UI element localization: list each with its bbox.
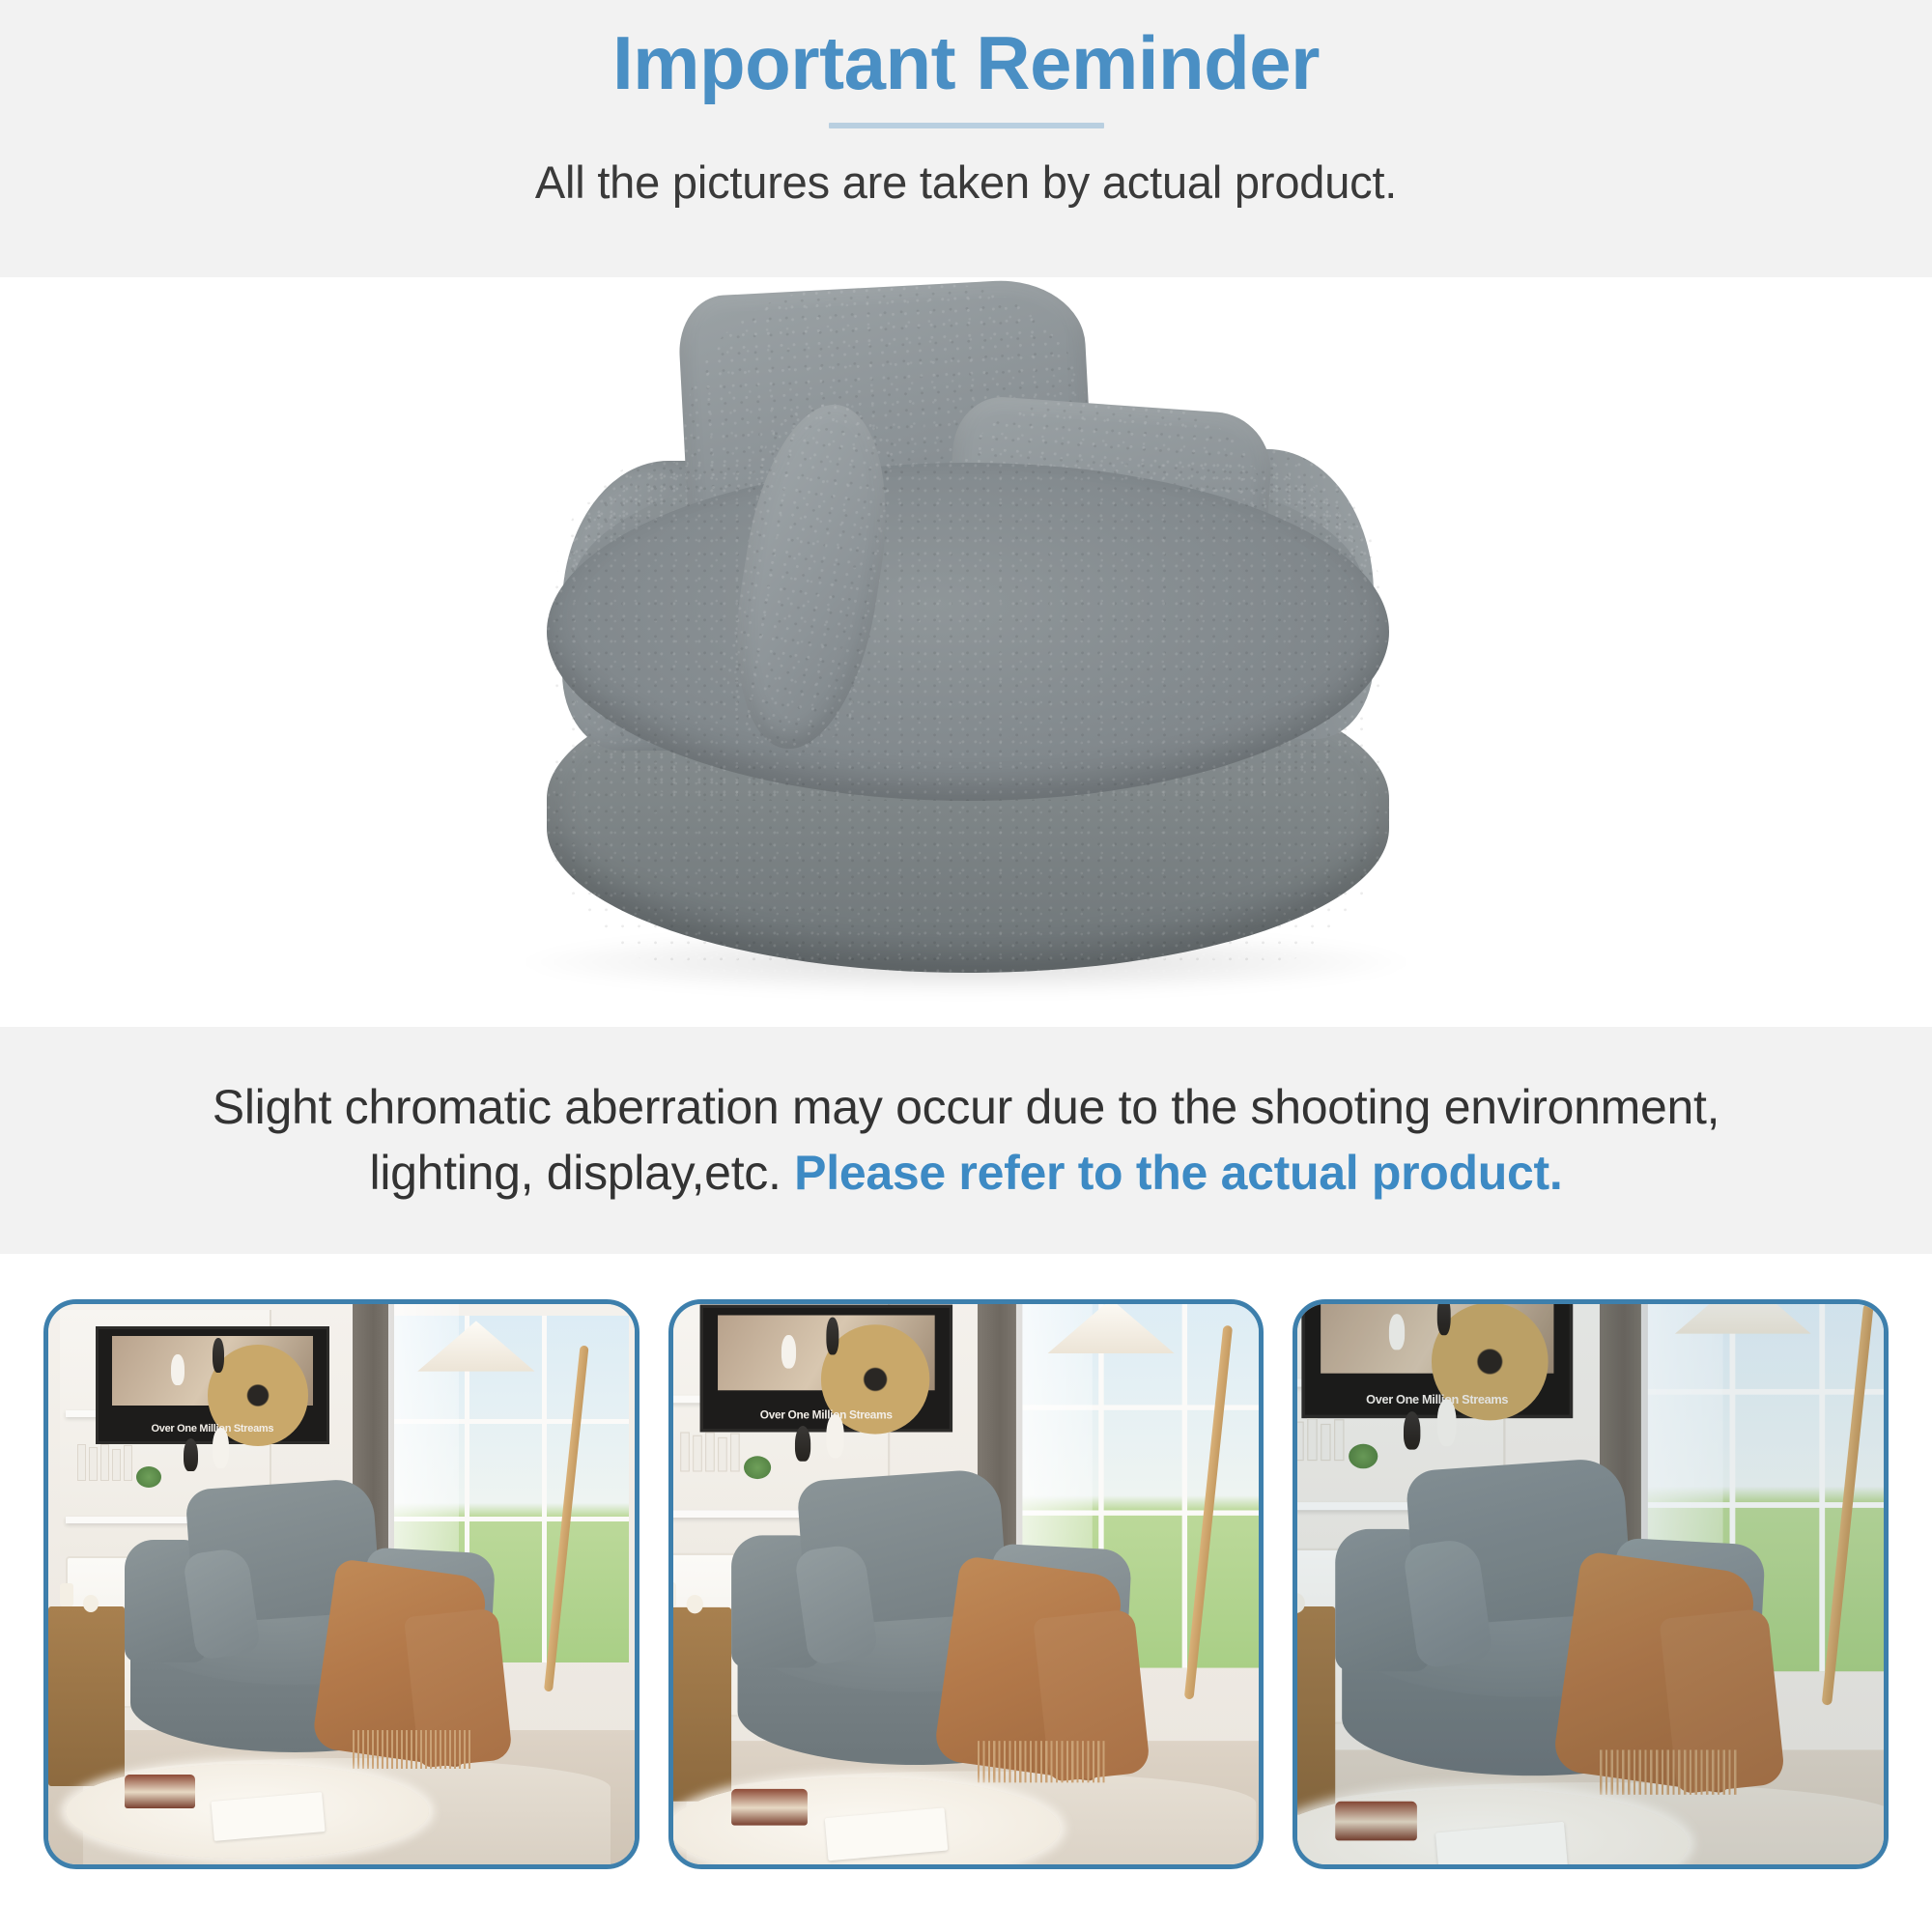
toy-radio: [731, 1789, 808, 1826]
room-scene: Over One Million Streams: [668, 1299, 1264, 1869]
thumbnail-3[interactable]: Over One Million Streams: [1293, 1299, 1889, 1869]
side-table: [668, 1607, 731, 1801]
side-table: [48, 1606, 125, 1786]
framed-poster: Over One Million Streams: [699, 1305, 952, 1433]
toy-radio: [125, 1775, 195, 1808]
hero-product-image: [0, 277, 1932, 1027]
page-title: Important Reminder: [612, 21, 1320, 105]
thumbnail-2[interactable]: Over One Million Streams: [668, 1299, 1264, 1869]
chair-seat: [547, 463, 1389, 801]
blue-tint-overlay: [1297, 1304, 1884, 1864]
notice-line-1: Slight chromatic aberration may occur du…: [213, 1075, 1719, 1141]
header-subtitle: All the pictures are taken by actual pro…: [535, 156, 1397, 209]
notice-line-2-plain: lighting, display,etc.: [370, 1146, 795, 1200]
lifestyle-thumbnail-gallery: Over One Million Streams: [43, 1299, 1889, 1869]
swivel-chair-illustration: [454, 295, 1478, 1009]
framed-poster: Over One Million Streams: [96, 1326, 330, 1444]
notice-line-2: lighting, display,etc. Please refer to t…: [370, 1141, 1563, 1207]
title-divider: [829, 123, 1104, 128]
poster-caption: Over One Million Streams: [702, 1409, 950, 1422]
header-band: Important Reminder All the pictures are …: [0, 0, 1932, 277]
product-detail-page: Important Reminder All the pictures are …: [0, 0, 1932, 1932]
poster-caption: Over One Million Streams: [99, 1423, 327, 1435]
room-scene: Over One Million Streams: [48, 1304, 635, 1864]
thumbnail-1[interactable]: Over One Million Streams: [43, 1299, 639, 1869]
notice-accent-text: Please refer to the actual product.: [794, 1146, 1562, 1200]
chromatic-aberration-notice: Slight chromatic aberration may occur du…: [0, 1027, 1932, 1254]
